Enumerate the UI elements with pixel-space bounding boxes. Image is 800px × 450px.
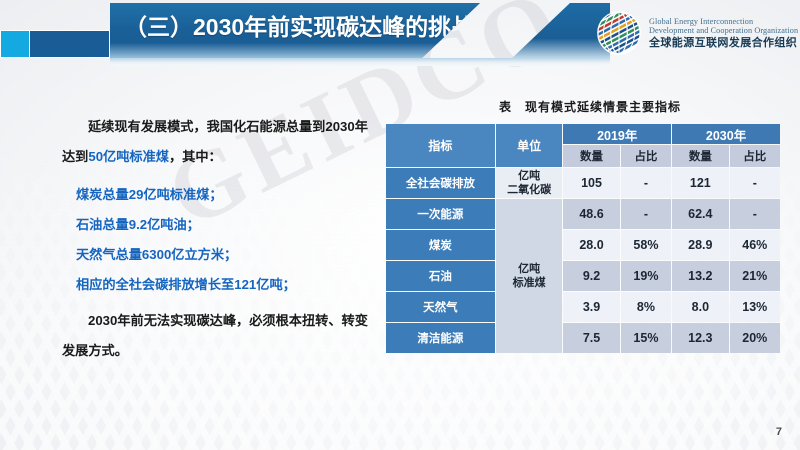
- paragraph-intro: 延续现有发展模式，我国化石能源总量到2030年达到50亿吨标准煤，其中：: [62, 112, 374, 172]
- cell-amount-2019: 48.6: [563, 199, 619, 229]
- table-header: 指标 单位 2019年 2030年 数量 占比 数量 占比: [386, 124, 780, 167]
- logo-english-line2: Development and Cooperation Organization: [649, 26, 798, 35]
- header-share-2019: 占比: [621, 145, 671, 167]
- header-share-2030: 占比: [730, 145, 780, 167]
- logo-english-line1: Global Energy Interconnection: [649, 17, 798, 26]
- title-banner: （三）2030年前实现碳达峰的挑战: [110, 3, 610, 60]
- cell-share-2030: 46%: [730, 230, 780, 260]
- table-row: 一次能源 亿吨 标准煤 48.6 - 62.4 -: [386, 199, 780, 229]
- cell-share-2019: -: [621, 168, 671, 198]
- organization-logo: Global Energy Interconnection Developmen…: [596, 8, 796, 58]
- bullet-item-gas: 天然气总量6300亿立方米；: [62, 240, 374, 270]
- cell-amount-2019: 9.2: [563, 261, 619, 291]
- cell-amount-2030: 62.4: [672, 199, 728, 229]
- decoration-block-blue: [30, 30, 110, 58]
- cell-share-2019: 8%: [621, 292, 671, 322]
- table-row: 全社会碳排放 亿吨 二氧化碳 105 - 121 -: [386, 168, 780, 198]
- cell-share-2019: 15%: [621, 323, 671, 353]
- unit-line2: 标准煤: [496, 276, 563, 290]
- cell-share-2030: -: [730, 168, 780, 198]
- cell-share-2019: 58%: [621, 230, 671, 260]
- cell-amount-2030: 13.2: [672, 261, 728, 291]
- cell-amount-2019: 105: [563, 168, 619, 198]
- table-row: 天然气 3.9 8% 8.0 13%: [386, 292, 780, 322]
- unit-line1: 亿吨: [496, 262, 563, 276]
- page-title: （三）2030年前实现碳达峰的挑战: [124, 10, 508, 44]
- cell-amount-2019: 7.5: [563, 323, 619, 353]
- cell-amount-2019: 3.9: [563, 292, 619, 322]
- cell-share-2019: -: [621, 199, 671, 229]
- row-label: 煤炭: [386, 230, 495, 260]
- header-year-2030: 2030年: [672, 124, 780, 144]
- cell-share-2019: 19%: [621, 261, 671, 291]
- row-label: 天然气: [386, 292, 495, 322]
- globe-icon: [596, 10, 642, 56]
- cell-share-2030: 20%: [730, 323, 780, 353]
- body-text-block: 延续现有发展模式，我国化石能源总量到2030年达到50亿吨标准煤，其中： 煤炭总…: [62, 112, 374, 368]
- table-header-row-top: 指标 单位 2019年 2030年: [386, 124, 780, 144]
- decoration-block-cyan: [0, 30, 30, 58]
- row-label: 清洁能源: [386, 323, 495, 353]
- indicators-table: 指标 单位 2019年 2030年 数量 占比 数量 占比 全社会碳排放 亿吨 …: [385, 123, 781, 354]
- paragraph-intro-highlight: 50亿吨标准煤: [88, 149, 169, 164]
- table-row: 煤炭 28.0 58% 28.9 46%: [386, 230, 780, 260]
- table-body: 全社会碳排放 亿吨 二氧化碳 105 - 121 - 一次能源 亿吨 标准煤 4…: [386, 168, 780, 353]
- title-banner-underline: [110, 58, 610, 66]
- row-unit-energy: 亿吨 标准煤: [496, 199, 563, 353]
- cell-amount-2030: 12.3: [672, 323, 728, 353]
- bullet-item-coal: 煤炭总量29亿吨标准煤；: [62, 180, 374, 210]
- bullet-item-oil: 石油总量9.2亿吨油；: [62, 210, 374, 240]
- header-unit: 单位: [496, 124, 563, 167]
- row-unit-carbon: 亿吨 二氧化碳: [496, 168, 563, 198]
- cell-share-2030: 13%: [730, 292, 780, 322]
- page-number: 7: [776, 426, 782, 438]
- header-indicator: 指标: [386, 124, 495, 167]
- header-amount-2019: 数量: [563, 145, 619, 167]
- unit-line2: 二氧化碳: [496, 183, 563, 197]
- slide-canvas: GEIDCO （三）2030年前实现碳达峰的挑战: [0, 0, 800, 450]
- table-caption: 表 现有模式延续情景主要指标: [404, 98, 776, 115]
- logo-chinese-name: 全球能源互联网发展合作组织: [649, 37, 798, 49]
- cell-share-2030: -: [730, 199, 780, 229]
- cell-amount-2030: 121: [672, 168, 728, 198]
- paragraph-conclusion: 2030年前无法实现碳达峰，必须根本扭转、转变发展方式。: [62, 306, 374, 366]
- paragraph-intro-part2: ，其中：: [169, 149, 222, 164]
- header-year-2019: 2019年: [563, 124, 671, 144]
- row-label: 一次能源: [386, 199, 495, 229]
- row-label: 石油: [386, 261, 495, 291]
- cell-share-2030: 21%: [730, 261, 780, 291]
- cell-amount-2030: 28.9: [672, 230, 728, 260]
- header-decoration-blocks: [0, 30, 110, 58]
- header-amount-2030: 数量: [672, 145, 728, 167]
- cell-amount-2030: 8.0: [672, 292, 728, 322]
- logo-text-block: Global Energy Interconnection Developmen…: [649, 17, 798, 50]
- table-row: 清洁能源 7.5 15% 12.3 20%: [386, 323, 780, 353]
- table-row: 石油 9.2 19% 13.2 21%: [386, 261, 780, 291]
- cell-amount-2019: 28.0: [563, 230, 619, 260]
- slide-header: （三）2030年前实现碳达峰的挑战: [0, 0, 800, 66]
- bullet-item-emissions: 相应的全社会碳排放增长至121亿吨；: [62, 270, 374, 300]
- unit-line1: 亿吨: [496, 169, 563, 183]
- row-label: 全社会碳排放: [386, 168, 495, 198]
